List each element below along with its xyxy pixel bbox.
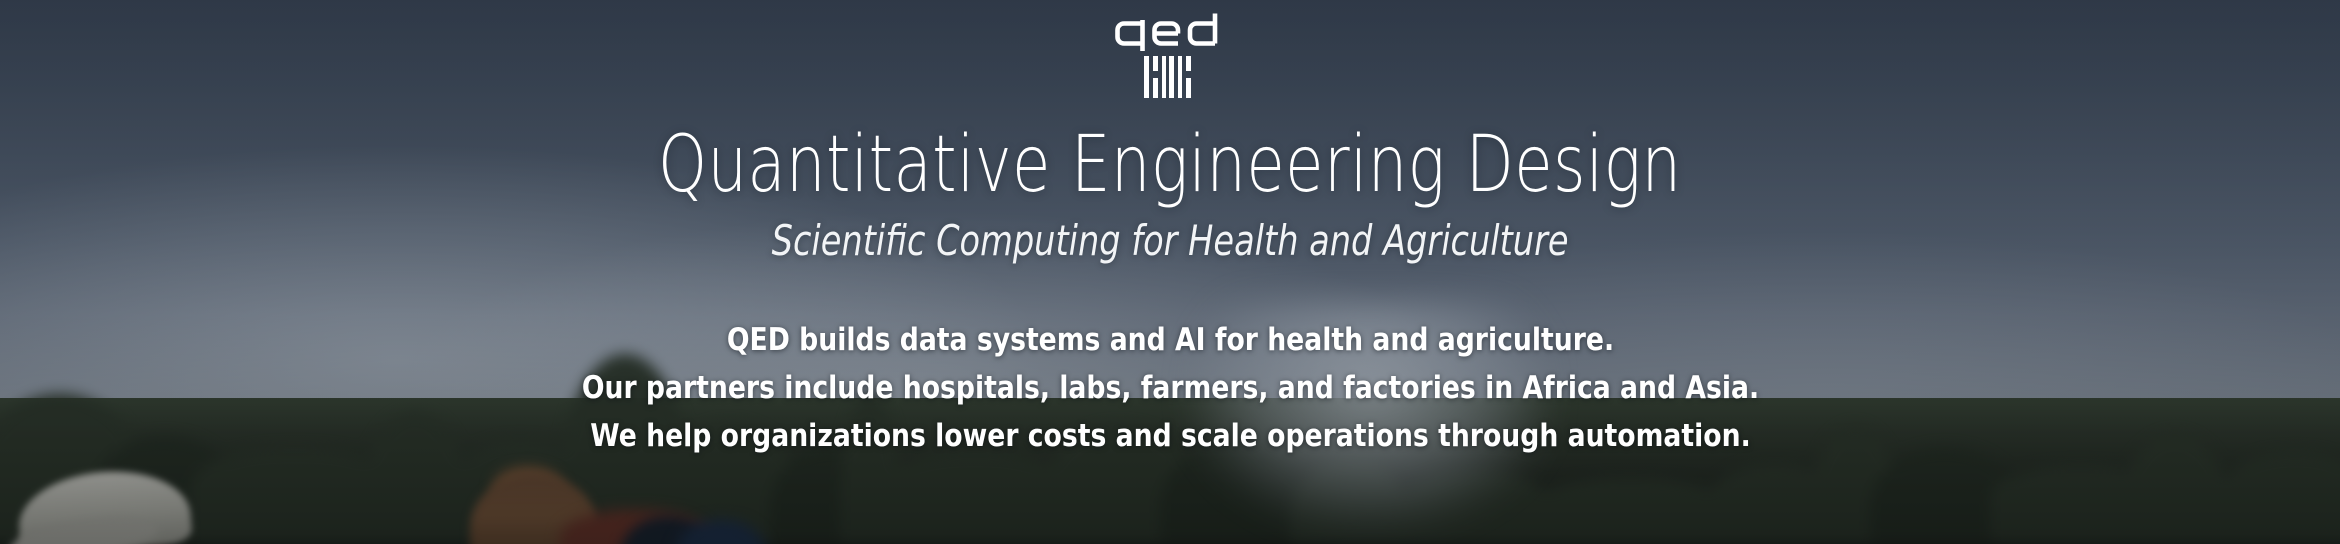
hero-content: Quantitative Engineering Design Scientif… [0,0,2340,544]
page-title: Quantitative Engineering Design [658,126,1682,204]
qed-wordmark-icon [1111,12,1229,52]
barcode-mark-icon [1144,56,1196,98]
body-line: Our partners include hospitals, labs, fa… [581,366,1758,411]
page-subtitle: Scientific Computing for Health and Agri… [772,220,1569,262]
hero-banner: Quantitative Engineering Design Scientif… [0,0,2340,544]
qed-logo[interactable] [1111,12,1229,98]
body-line: We help organizations lower costs and sc… [581,414,1758,459]
hero-body-copy: QED builds data systems and AI for healt… [486,318,1855,459]
body-line: QED builds data systems and AI for healt… [581,318,1758,363]
